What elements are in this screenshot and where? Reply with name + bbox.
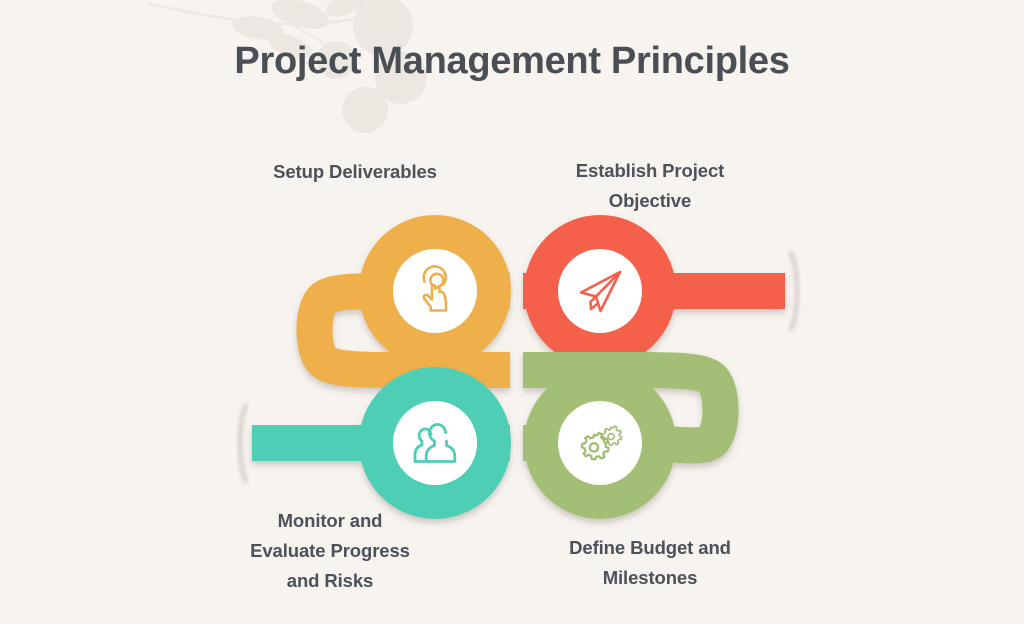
process-loop-diagram bbox=[0, 0, 1024, 624]
node-circle-define-budget-milestones[interactable] bbox=[558, 401, 642, 485]
infographic-canvas: Project Management Principles Setup Deli… bbox=[0, 0, 1024, 624]
red-connector-arrow-tip bbox=[791, 253, 797, 329]
node-circle-setup-deliverables[interactable] bbox=[393, 249, 477, 333]
teal-connector-arrow-tip bbox=[240, 405, 246, 481]
